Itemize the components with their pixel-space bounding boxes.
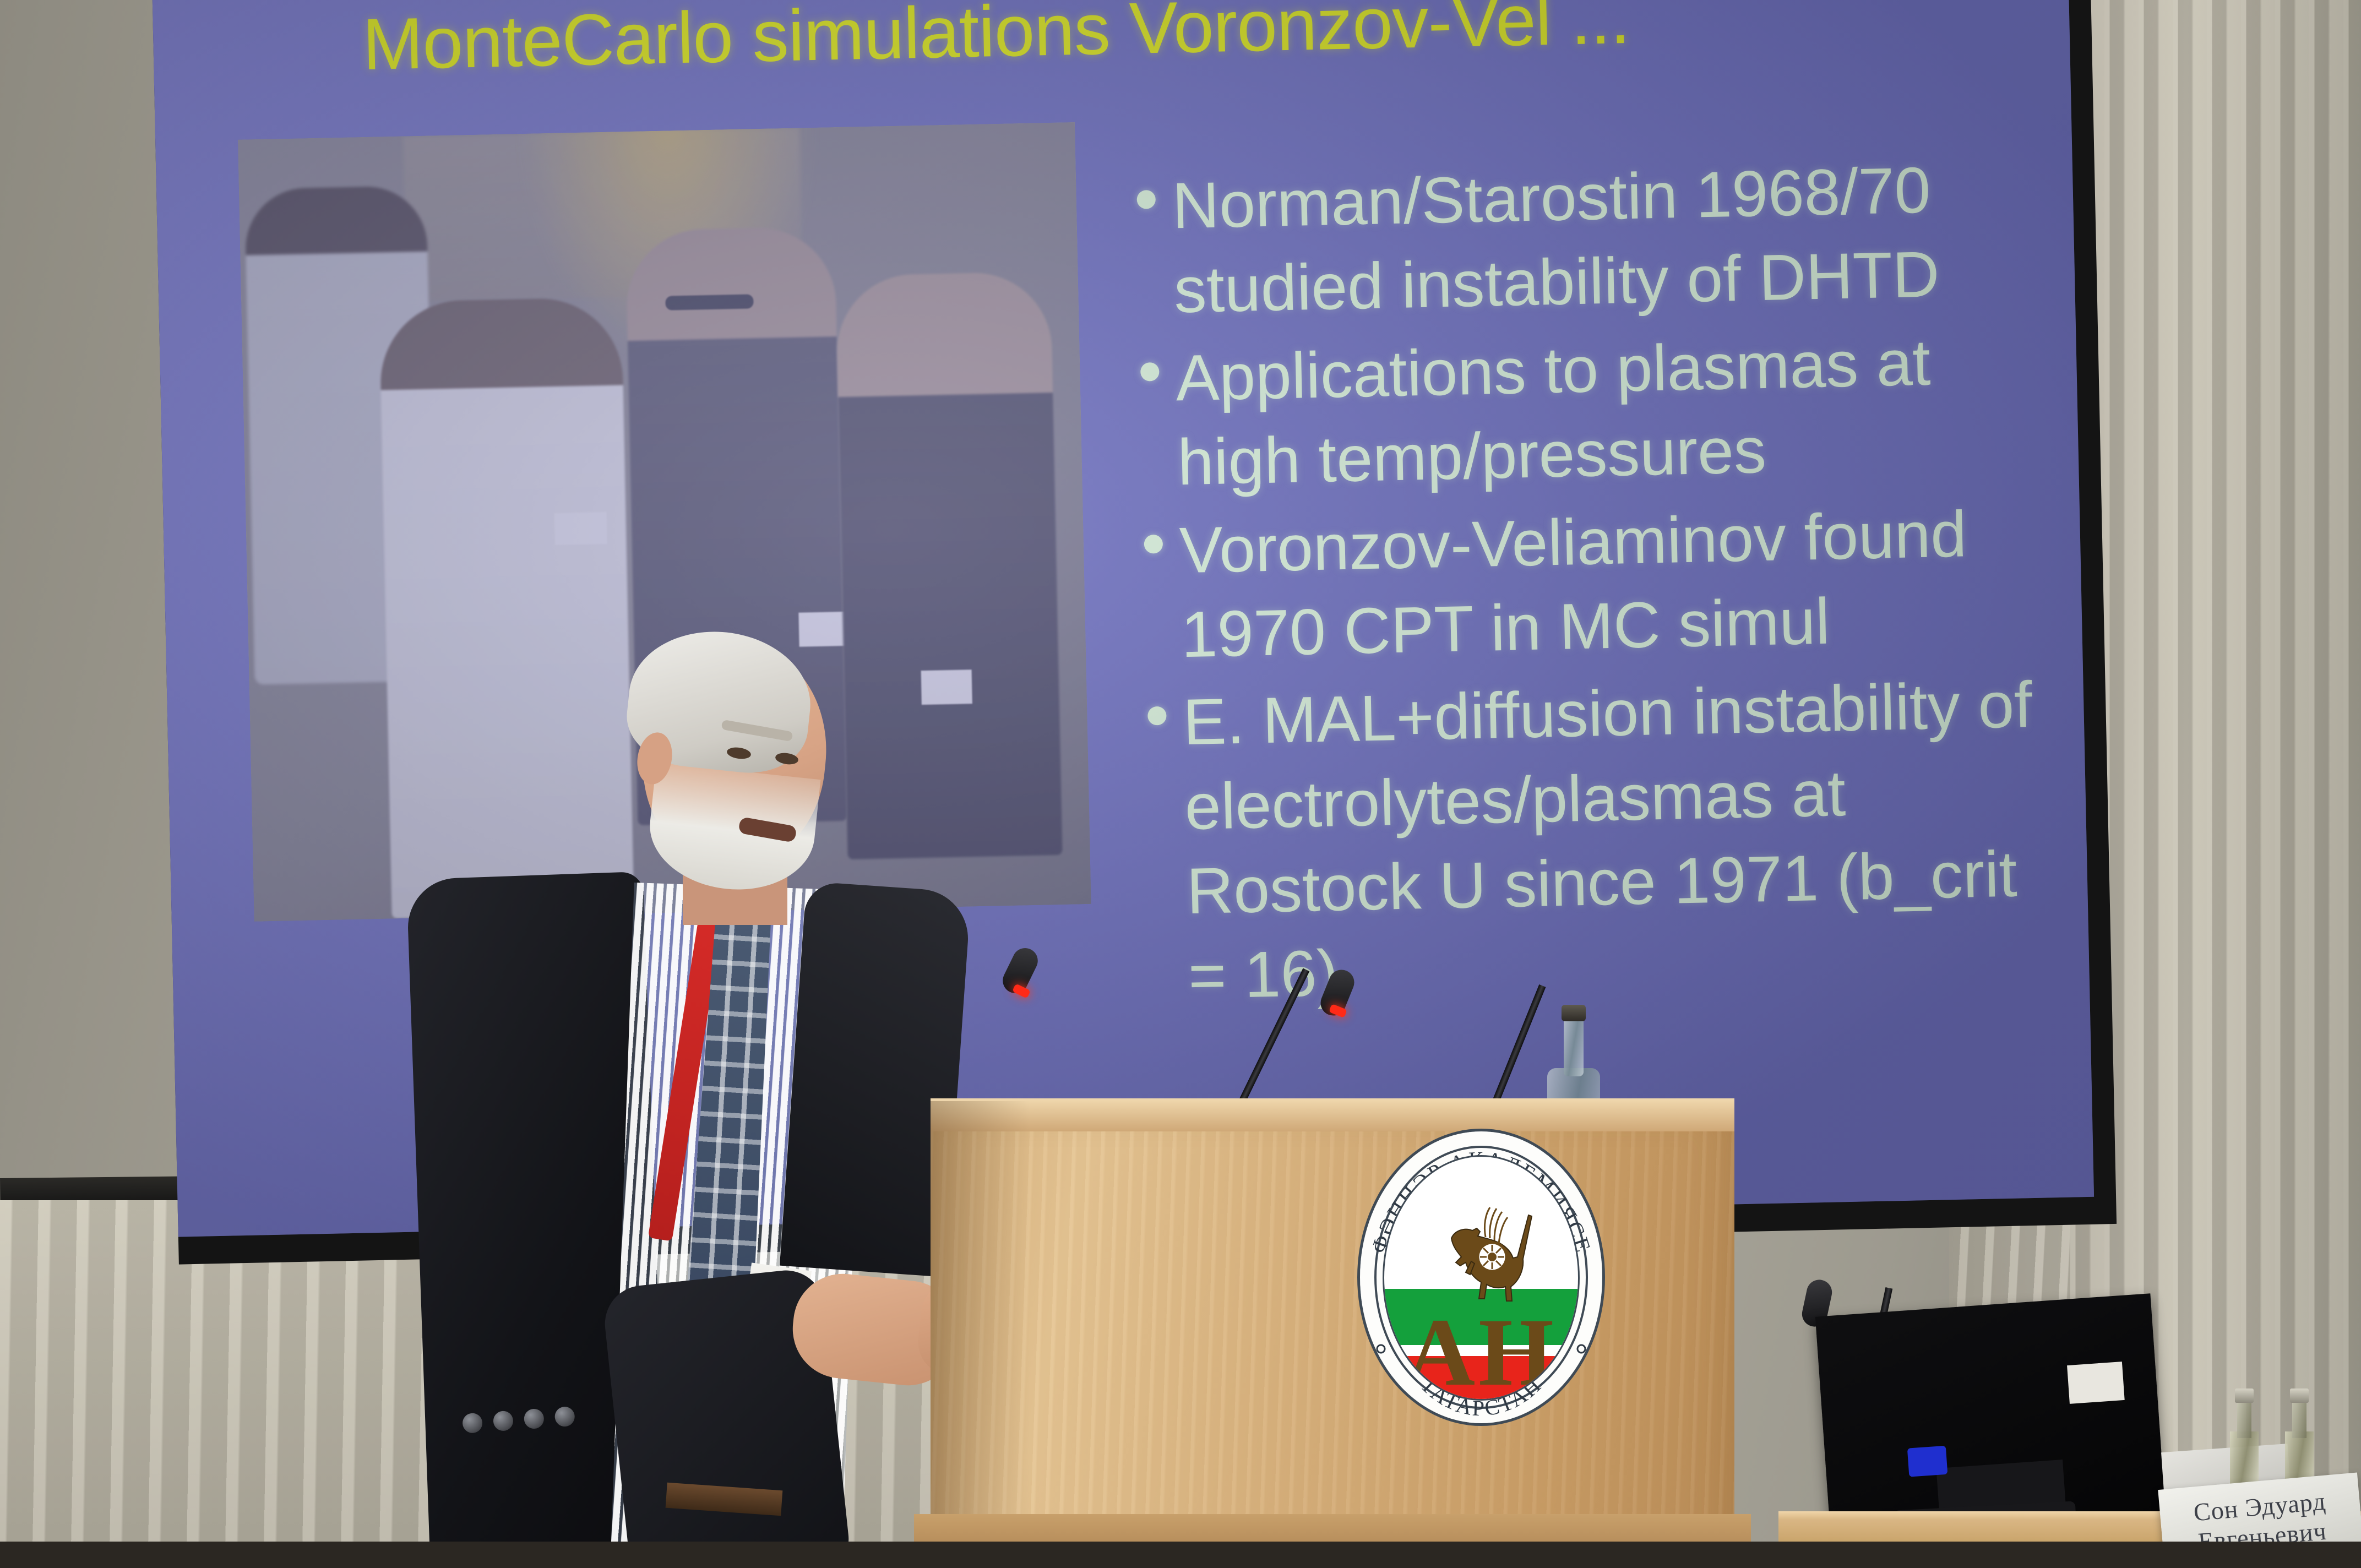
slide-title: 1968 (PPT Norman/Starostin) MonteCarlo s… bbox=[294, 0, 2004, 90]
microphone-icon bbox=[1013, 952, 1244, 1123]
bullet-dot-icon bbox=[1144, 534, 1163, 553]
list-item: E. MAL+diffusion instability of electrol… bbox=[1147, 663, 2046, 1019]
bullet-dot-icon bbox=[1140, 362, 1160, 382]
list-item: Voronzov-Veliaminov found 1970 CPT in MC… bbox=[1144, 491, 2039, 678]
lectern-top-surface bbox=[931, 1098, 1734, 1131]
list-item: Applications to plasmas at high temp/pre… bbox=[1140, 319, 2035, 507]
winged-leopard-icon bbox=[1446, 1204, 1539, 1309]
academy-emblem: ФӘННӘР АКАДЕМИЯСЕ ТАТАРСТАН bbox=[1360, 1131, 1602, 1423]
lectern-shadow bbox=[931, 1101, 1030, 1568]
slide-title-line-2: MonteCarlo simulations Voronzov-Vel ... bbox=[296, 0, 2004, 90]
bullet-text: E. MAL+diffusion instability of electrol… bbox=[1182, 663, 2046, 1019]
bullet-dot-icon bbox=[1136, 190, 1156, 209]
vga-connector-icon bbox=[1907, 1446, 1947, 1477]
monitor-label-sticker bbox=[2067, 1362, 2125, 1404]
monitor-icon bbox=[1815, 1293, 2166, 1537]
emblem-inner-disc: АН bbox=[1384, 1157, 1578, 1399]
microphone-led-icon bbox=[1012, 983, 1031, 999]
emblem-center-text: АН bbox=[1384, 1304, 1578, 1399]
bottle-neck bbox=[1564, 1016, 1584, 1076]
bullet-dot-icon bbox=[1147, 706, 1167, 726]
bullet-text: Norman/Starostin 1968/70 studied instabi… bbox=[1171, 146, 2031, 333]
bullet-text: Applications to plasmas at high temp/pre… bbox=[1175, 319, 2035, 505]
bottle-cap bbox=[1562, 1005, 1586, 1021]
lectern-wood-grain bbox=[931, 1101, 1734, 1568]
foreground-floor bbox=[0, 1542, 2361, 1568]
list-item: Norman/Starostin 1968/70 studied instabi… bbox=[1136, 146, 2031, 334]
bullet-text: Voronzov-Veliaminov found 1970 CPT in MC… bbox=[1179, 491, 2039, 677]
speaker-person bbox=[485, 628, 936, 1568]
slide-bullet-list: Norman/Starostin 1968/70 studied instabi… bbox=[1136, 146, 2046, 1022]
lecture-hall-photo: 1968 (PPT Norman/Starostin) MonteCarlo s… bbox=[0, 0, 2361, 1568]
